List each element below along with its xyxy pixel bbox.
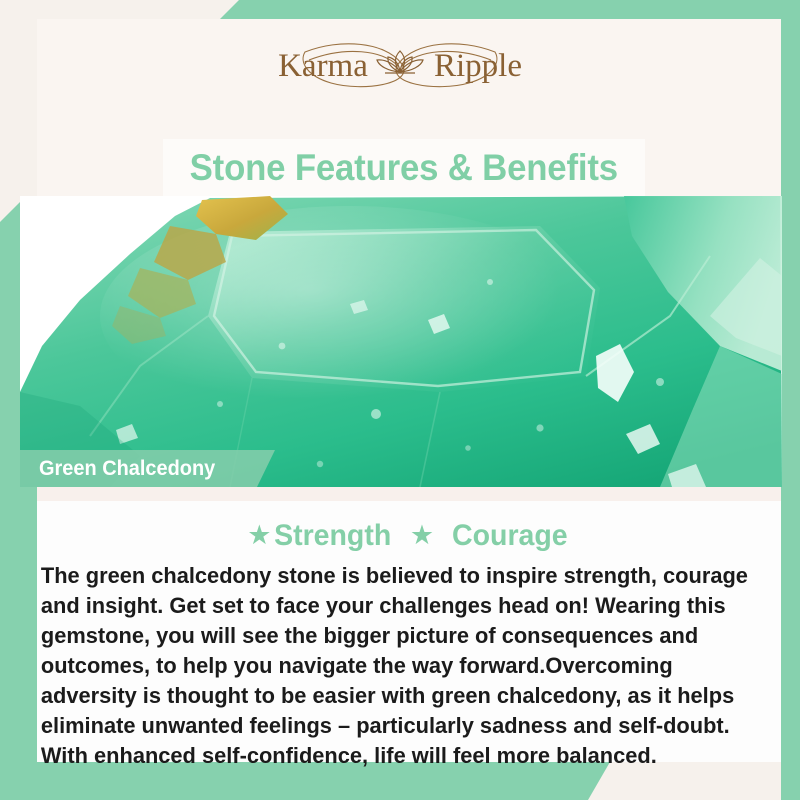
brand-word-right: Ripple: [434, 48, 522, 84]
content-area: ★Strength★Courage The green chalcedony s…: [37, 501, 781, 762]
title-banner: Stone Features & Benefits: [163, 139, 645, 196]
page-title: Stone Features & Benefits: [190, 147, 618, 189]
frame-band-right: [781, 0, 800, 800]
stone-photo: [20, 196, 782, 487]
star-icon-courage: ★: [410, 520, 434, 551]
keyword-courage: Courage: [452, 519, 568, 553]
lotus-ribbon-icon: Karma Ripple: [235, 36, 565, 98]
divider-strip: [37, 487, 781, 501]
poster-canvas: Karma Ripple Stone Features & Benefits: [0, 0, 800, 800]
keyword-strength: Strength: [275, 519, 392, 553]
brand-word-left: Karma: [278, 48, 368, 84]
stone-name-banner: Green Chalcedony: [20, 450, 275, 487]
frame-band-top: [220, 0, 800, 19]
stone-name-label: Green Chalcedony: [20, 457, 215, 481]
star-icon-strength: ★: [247, 520, 271, 551]
green-chalcedony-image: [20, 196, 782, 487]
brand-logo: Karma Ripple: [0, 34, 800, 100]
keyword-headings: ★Strength★Courage: [37, 519, 781, 553]
body-paragraph: The green chalcedony stone is believed t…: [37, 561, 759, 771]
